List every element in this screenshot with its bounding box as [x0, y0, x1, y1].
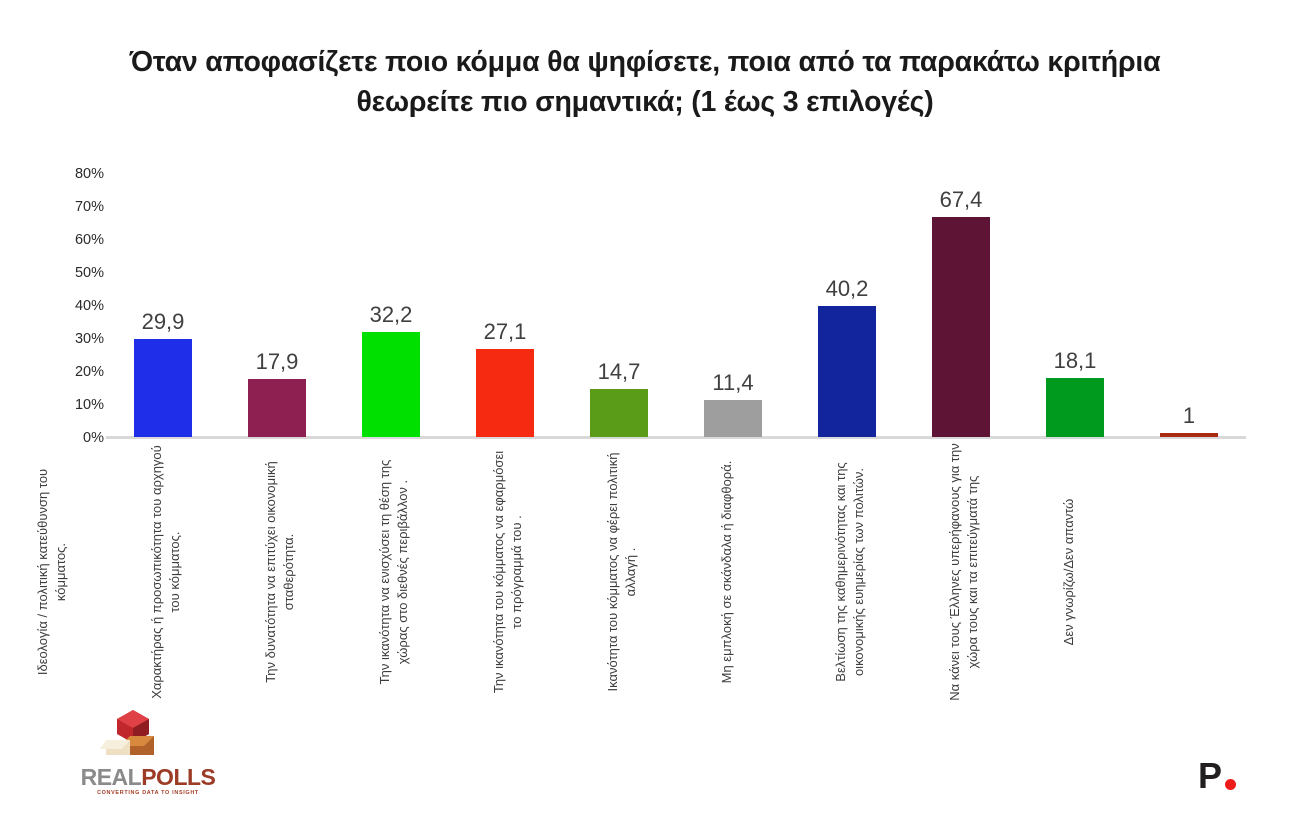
bar[interactable]	[1160, 433, 1218, 437]
bar-slot: 17,9	[220, 176, 334, 437]
bar-slot: 1	[1132, 176, 1246, 437]
x-axis-category-label: Χαρακτήρας ή προσωπικότητα του αρχηγού τ…	[148, 443, 183, 701]
bar-slot: 32,2	[334, 176, 448, 437]
bar-slot: 14,7	[562, 176, 676, 437]
bar-value-label: 17,9	[256, 351, 299, 373]
bar[interactable]	[704, 400, 762, 437]
realpolls-word-polls: POLLS	[141, 764, 215, 790]
bar-value-label: 18,1	[1054, 350, 1097, 372]
y-axis-tick: 10%	[46, 397, 104, 413]
x-axis-category-label: Την δυνατότητα να επιτύχει οικονομική στ…	[262, 443, 297, 701]
bar[interactable]	[932, 217, 990, 437]
y-axis-tick: 40%	[46, 298, 104, 314]
x-axis-category-label: Την ικανότητα του κόμματος να εφαρμόσει …	[490, 443, 525, 701]
bar[interactable]	[476, 349, 534, 437]
bar-value-label: 14,7	[598, 361, 641, 383]
x-axis-labels: Ιδεολογία / πολιτική κατεύθυνση του κόμμ…	[106, 443, 1246, 705]
bar-slot: 27,1	[448, 176, 562, 437]
x-axis-category-label: Βελτίωση της καθημερινότητας και της οικ…	[832, 443, 867, 701]
x-axis-category-label: Να κάνει τους Έλληνες υπερήφανους για τη…	[946, 443, 981, 701]
p-logo: P	[1198, 762, 1254, 796]
bar-value-label: 32,2	[370, 304, 413, 326]
bar[interactable]	[1046, 378, 1104, 437]
x-axis-category-label: Ικανότητα του κόμματος να φέρει πολιτική…	[604, 443, 639, 701]
bar-value-label: 1	[1183, 405, 1195, 427]
realpolls-cube-icon	[100, 708, 166, 766]
bar-slot: 18,1	[1018, 176, 1132, 437]
realpolls-logo: REALPOLLS CONVERTING DATA TO INSIGHT	[58, 708, 238, 808]
plot-area: 29,917,932,227,114,711,440,267,418,11	[106, 176, 1246, 437]
bar-slot: 11,4	[676, 176, 790, 437]
y-axis-tick: 50%	[46, 265, 104, 281]
x-axis-category-label: Ιδεολογία / πολιτική κατεύθυνση του κόμμ…	[34, 443, 69, 701]
realpolls-wordmark: REALPOLLS	[58, 766, 238, 789]
y-axis-tick: 80%	[46, 166, 104, 182]
bar[interactable]	[818, 306, 876, 437]
x-axis-category-label: Την ικανότητα να ενισχύσει τη θέση της χ…	[376, 443, 411, 701]
bar[interactable]	[134, 339, 192, 437]
y-axis-tick: 20%	[46, 364, 104, 380]
bar[interactable]	[590, 389, 648, 437]
bar[interactable]	[248, 379, 306, 437]
bar[interactable]	[362, 332, 420, 437]
bar-value-label: 11,4	[712, 372, 753, 394]
realpolls-tagline: CONVERTING DATA TO INSIGHT	[58, 790, 238, 796]
bar-value-label: 27,1	[484, 321, 527, 343]
bar-value-label: 29,9	[142, 311, 185, 333]
bar-value-label: 40,2	[826, 278, 869, 300]
p-logo-letter: P	[1198, 758, 1222, 794]
y-axis-tick: 30%	[46, 331, 104, 347]
bar-value-label: 67,4	[940, 189, 983, 211]
bar-slot: 40,2	[790, 176, 904, 437]
bar-chart: 80%70%60%50%40%30%20%10%0% 29,917,932,22…	[0, 0, 1290, 822]
y-axis-tick: 70%	[46, 199, 104, 215]
x-axis-category-label: Δεν γνωρίζω/Δεν απαντώ	[1060, 443, 1078, 701]
bar-slot: 29,9	[106, 176, 220, 437]
realpolls-word-real: REAL	[81, 764, 142, 790]
x-axis-category-label: Μη εμπλοκή σε σκάνδαλα ή διαφθορά.	[718, 443, 736, 701]
y-axis-tick: 60%	[46, 232, 104, 248]
y-axis: 80%70%60%50%40%30%20%10%0%	[46, 172, 104, 440]
p-logo-dot-icon	[1225, 779, 1236, 790]
bar-slot: 67,4	[904, 176, 1018, 437]
x-axis-label-slot: Δεν γνωρίζω/Δεν απαντώ	[1132, 443, 1246, 705]
